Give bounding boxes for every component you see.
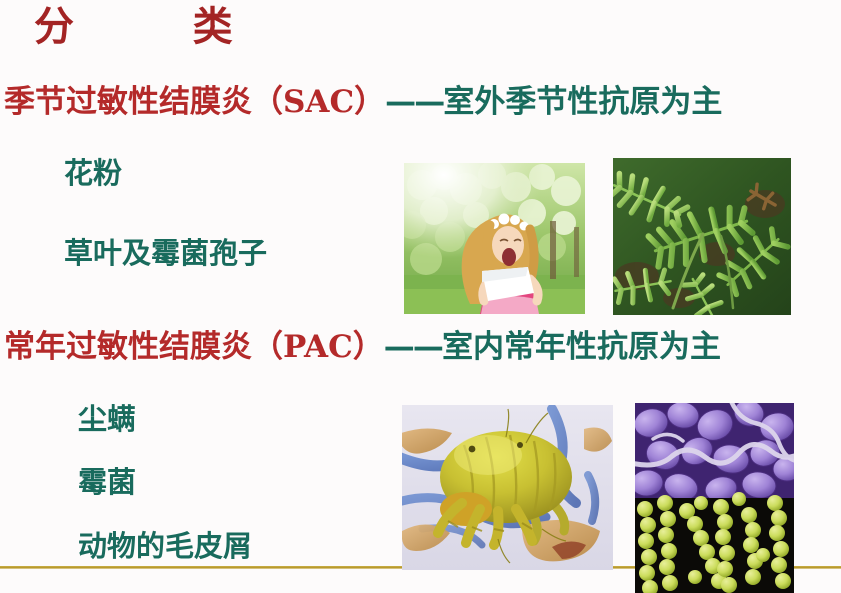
microbes-image — [635, 403, 794, 593]
sac-heading-teal: 室外季节性抗原为主 — [443, 84, 722, 120]
ragweed-image — [613, 158, 791, 315]
photo-dust-mite — [402, 405, 613, 570]
dust-mite-image — [402, 405, 613, 570]
sneezing-girl-image — [404, 163, 585, 314]
pac-heading-red: 常年过敏性结膜炎（PAC） — [4, 329, 384, 365]
page-title: 分 类 — [34, 4, 233, 50]
photo-sneezing-girl — [404, 163, 585, 314]
pac-item-dust-mite: 尘螨 — [78, 404, 136, 436]
pac-item-mold: 霉菌 — [78, 467, 136, 499]
sac-item-grass-mold-spores: 草叶及霉菌孢子 — [64, 238, 267, 270]
sac-heading-red: 季节过敏性结膜炎（SAC） — [4, 84, 385, 120]
sac-heading-row: 季节过敏性结膜炎（SAC）——室外季节性抗原为主 — [4, 85, 722, 119]
pac-item-animal-dander: 动物的毛皮屑 — [78, 531, 252, 563]
sac-item-pollen: 花粉 — [64, 158, 122, 190]
sac-dash: —— — [385, 84, 443, 120]
photo-microbes — [635, 403, 794, 593]
pac-heading-teal: 室内常年性抗原为主 — [442, 329, 721, 365]
pac-dash: —— — [384, 329, 442, 365]
slide-canvas: 分 类 季节过敏性结膜炎（SAC）——室外季节性抗原为主 花粉 草叶及霉菌孢子 … — [0, 0, 841, 593]
pac-heading-row: 常年过敏性结膜炎（PAC）——室内常年性抗原为主 — [4, 330, 721, 364]
photo-ragweed — [613, 158, 791, 315]
